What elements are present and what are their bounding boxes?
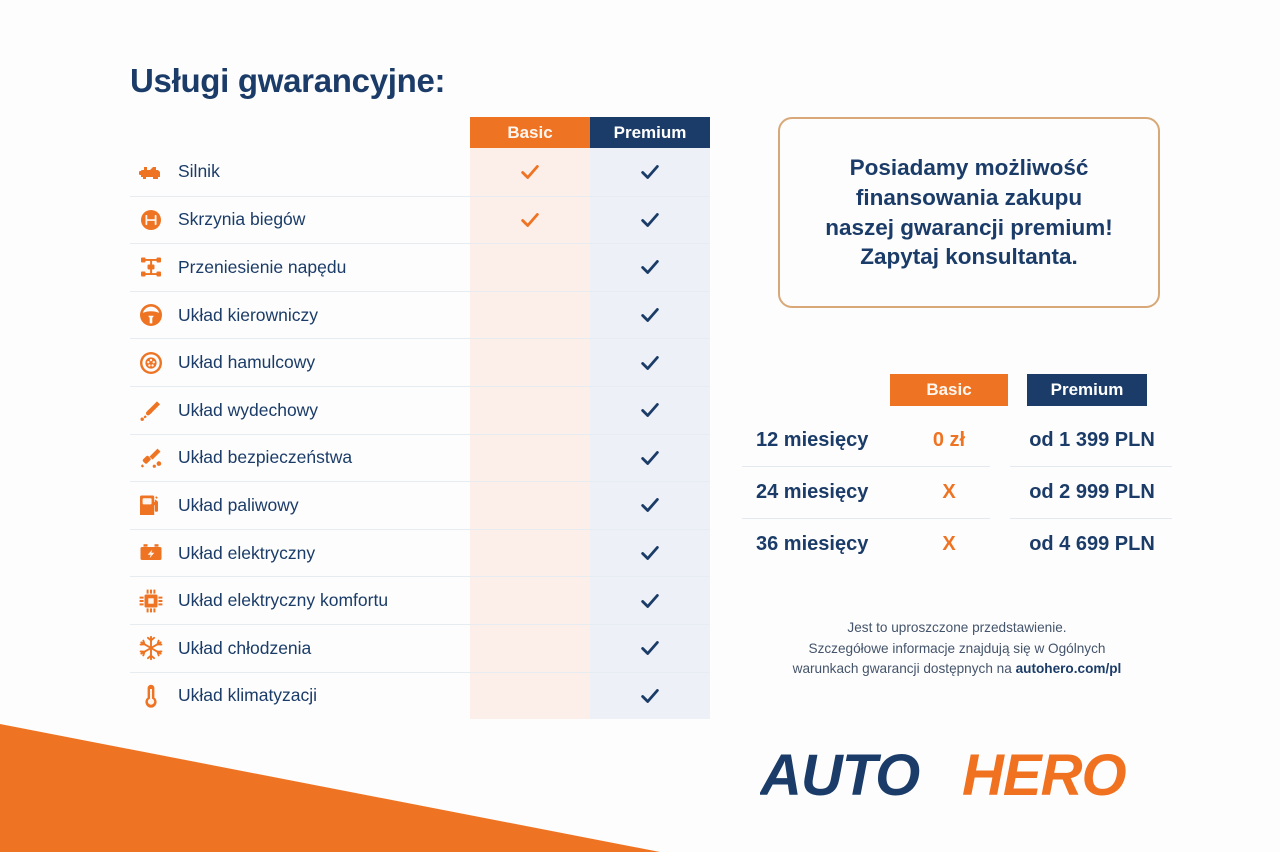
feature-check-premium — [590, 399, 710, 421]
financing-callout: Posiadamy możliwość finansowania zakupu … — [778, 117, 1160, 308]
price-row-divider-left — [742, 466, 990, 467]
feature-row: Układ elektryczny komfortu — [130, 576, 710, 624]
feature-label: Układ kierowniczy — [178, 305, 318, 326]
thermometer-icon — [130, 683, 172, 709]
fuel-pump-icon — [130, 492, 172, 518]
feature-label: Skrzynia biegów — [178, 209, 305, 230]
price-term: 24 miesięcy — [756, 481, 868, 504]
financing-callout-text: Posiadamy możliwość finansowania zakupu … — [811, 153, 1127, 272]
feature-label: Układ elektryczny — [178, 543, 315, 564]
feature-check-premium — [590, 161, 710, 183]
footnote: Jest to uproszczone przedstawienie. Szcz… — [742, 618, 1172, 680]
feature-row: Układ kierowniczy — [130, 291, 710, 339]
page-title: Usługi gwarancyjne: — [130, 62, 445, 100]
feature-row: Przeniesienie napędu — [130, 243, 710, 291]
warranty-infographic: Usługi gwarancyjne: Basic Premium Silnik… — [0, 0, 1280, 852]
feature-label: Układ paliwowy — [178, 495, 299, 516]
feature-label: Silnik — [178, 161, 220, 182]
feature-label: Układ elektryczny komfortu — [178, 590, 388, 611]
feature-row: Skrzynia biegów — [130, 196, 710, 244]
callout-line-2: finansowania zakupu — [825, 183, 1113, 213]
price-row-divider-right — [1010, 518, 1172, 519]
feature-row: Układ chłodzenia — [130, 624, 710, 672]
snowflake-icon — [130, 635, 172, 661]
price-premium: od 1 399 PLN — [1017, 429, 1167, 452]
autohero-website-link[interactable]: autohero.com/pl — [1016, 661, 1122, 676]
feature-check-premium — [590, 637, 710, 659]
price-row-divider-left — [742, 518, 990, 519]
svg-text:AUTO: AUTO — [760, 745, 920, 807]
steering-wheel-icon — [130, 302, 172, 328]
callout-line-1: Posiadamy możliwość — [825, 153, 1113, 183]
price-row: 12 miesięcy0 złod 1 399 PLN — [742, 414, 1172, 466]
seatbelt-icon — [130, 445, 172, 471]
footnote-line-3: warunkach gwarancji dostępnych na autohe… — [742, 659, 1172, 680]
price-basic: 0 zł — [890, 429, 1008, 452]
footnote-line-1: Jest to uproszczone przedstawienie. — [742, 618, 1172, 639]
callout-line-3: naszej gwarancji premium! — [825, 213, 1113, 243]
feature-label: Układ klimatyzacji — [178, 685, 317, 706]
feature-check-premium — [590, 542, 710, 564]
feature-header-basic: Basic — [470, 117, 590, 148]
price-row-list: 12 miesięcy0 złod 1 399 PLN24 miesięcyXo… — [742, 414, 1172, 570]
price-header-basic: Basic — [890, 374, 1008, 406]
drivetrain-icon — [130, 254, 172, 280]
price-premium: od 4 699 PLN — [1017, 533, 1167, 556]
price-row: 36 miesięcyXod 4 699 PLN — [742, 518, 1172, 570]
feature-check-premium — [590, 494, 710, 516]
footnote-line-2: Szczegółowe informacje znajdują się w Og… — [742, 639, 1172, 660]
feature-row: Układ paliwowy — [130, 481, 710, 529]
price-premium: od 2 999 PLN — [1017, 481, 1167, 504]
price-term: 12 miesięcy — [756, 429, 868, 452]
feature-row: Silnik — [130, 148, 710, 196]
feature-row: Układ hamulcowy — [130, 338, 710, 386]
chip-icon — [130, 588, 172, 614]
feature-check-premium — [590, 590, 710, 612]
feature-label: Układ bezpieczeństwa — [178, 447, 352, 468]
feature-label: Przeniesienie napędu — [178, 257, 346, 278]
autohero-logo: AUTO HERO — [760, 745, 1170, 807]
svg-text:HERO: HERO — [962, 745, 1126, 807]
brake-disc-icon — [130, 350, 172, 376]
footnote-line-3-prefix: warunkach gwarancji dostępnych na — [793, 661, 1016, 676]
feature-check-premium — [590, 209, 710, 231]
battery-icon — [130, 540, 172, 566]
gearbox-icon — [130, 207, 172, 233]
orange-wedge-decoration — [0, 702, 660, 852]
price-row: 24 miesięcyXod 2 999 PLN — [742, 466, 1172, 518]
price-term: 36 miesięcy — [756, 533, 868, 556]
feature-header-premium: Premium — [590, 117, 710, 148]
price-basic: X — [890, 481, 1008, 504]
feature-check-premium — [590, 447, 710, 469]
callout-line-4: Zapytaj konsultanta. — [825, 242, 1113, 272]
feature-check-basic — [470, 161, 590, 183]
feature-label: Układ wydechowy — [178, 400, 318, 421]
feature-check-premium — [590, 352, 710, 374]
feature-row: Układ wydechowy — [130, 386, 710, 434]
feature-check-premium — [590, 685, 710, 707]
price-basic: X — [890, 533, 1008, 556]
feature-row: Układ bezpieczeństwa — [130, 434, 710, 482]
exhaust-icon — [130, 397, 172, 423]
feature-check-premium — [590, 256, 710, 278]
feature-row: Układ elektryczny — [130, 529, 710, 577]
feature-label: Układ hamulcowy — [178, 352, 315, 373]
price-header-premium: Premium — [1027, 374, 1147, 406]
feature-row-list: SilnikSkrzynia biegówPrzeniesienie napęd… — [130, 148, 710, 719]
feature-label: Układ chłodzenia — [178, 638, 311, 659]
engine-icon — [130, 159, 172, 185]
feature-check-basic — [470, 209, 590, 231]
feature-check-premium — [590, 304, 710, 326]
feature-row: Układ klimatyzacji — [130, 672, 710, 720]
price-row-divider-right — [1010, 466, 1172, 467]
